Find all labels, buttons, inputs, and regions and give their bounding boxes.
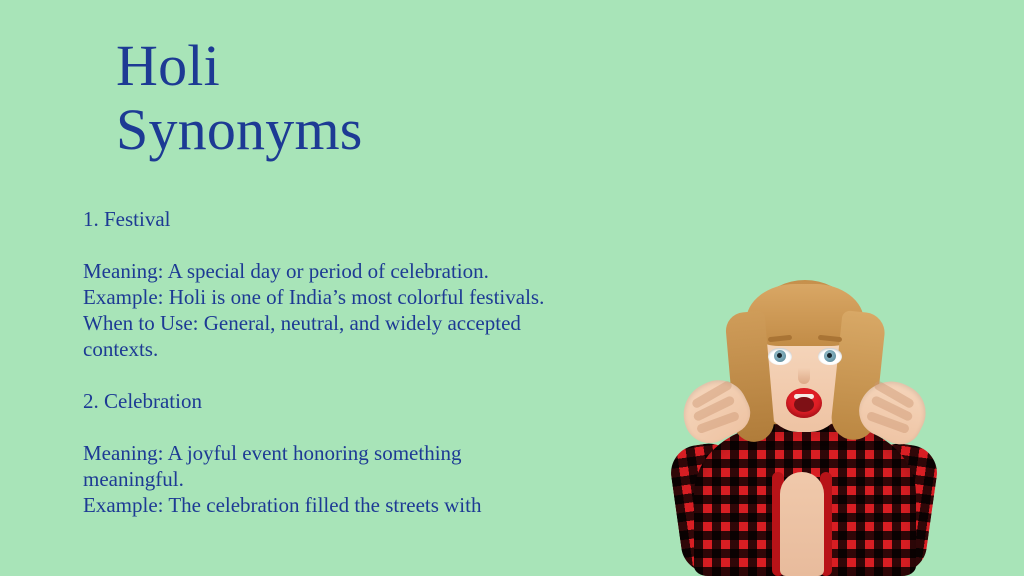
shirt-chest-gap	[780, 472, 824, 576]
section-1-line-2: Example: Holi is one of India’s most col…	[83, 284, 658, 310]
surprised-woman-photo	[676, 276, 932, 576]
page-title: Holi Synonyms	[116, 34, 596, 162]
title-line-2: Synonyms	[116, 98, 596, 162]
section-heading-2: 2. Celebration	[83, 388, 658, 414]
section-lines-2: Meaning: A joyful event honoring somethi…	[83, 440, 658, 518]
section-heading-1: 1. Festival	[83, 206, 658, 232]
section-2-line-3: Example: The celebration filled the stre…	[83, 492, 658, 518]
pupil-right	[827, 353, 832, 358]
nose	[798, 368, 810, 384]
section-1-line-1: Meaning: A special day or period of cele…	[83, 258, 658, 284]
body-content: 1. Festival Meaning: A special day or pe…	[83, 206, 658, 518]
section-festival: 1. Festival Meaning: A special day or pe…	[83, 206, 658, 362]
title-line-1: Holi	[116, 34, 596, 98]
section-2-line-2: meaningful.	[83, 466, 658, 492]
slide-canvas: Holi Synonyms 1. Festival Meaning: A spe…	[0, 0, 1024, 576]
mouth-inner	[794, 397, 814, 412]
section-lines-1: Meaning: A special day or period of cele…	[83, 258, 658, 362]
pupil-left	[777, 353, 782, 358]
section-2-line-1: Meaning: A joyful event honoring somethi…	[83, 440, 658, 466]
section-celebration: 2. Celebration Meaning: A joyful event h…	[83, 388, 658, 518]
section-1-line-4: contexts.	[83, 336, 658, 362]
section-1-line-3: When to Use: General, neutral, and widel…	[83, 310, 658, 336]
